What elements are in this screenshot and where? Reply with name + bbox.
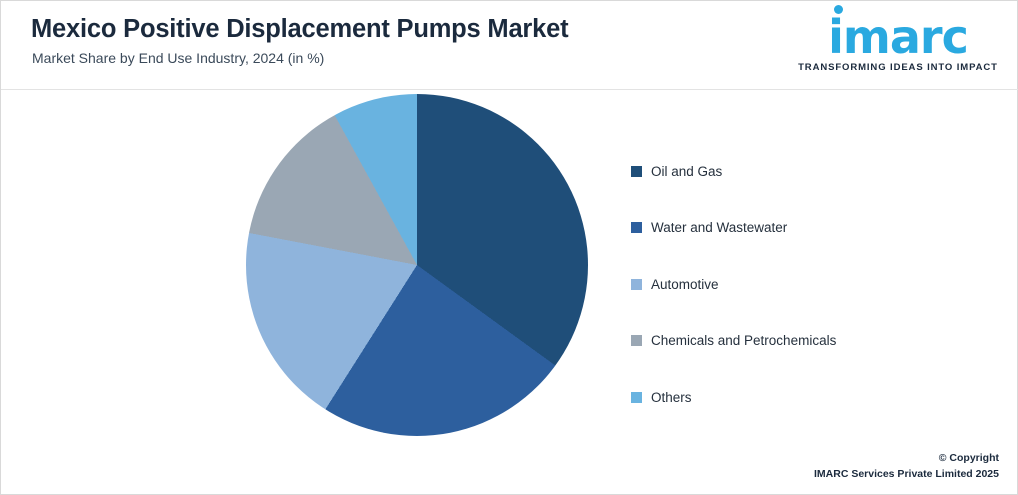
- legend-item[interactable]: Automotive: [631, 256, 971, 313]
- chart-page: Mexico Positive Displacement Pumps Marke…: [0, 0, 1018, 495]
- logo-wordmark: imarc: [828, 13, 968, 61]
- legend-item[interactable]: Oil and Gas: [631, 143, 971, 200]
- footer-copyright: © Copyright: [814, 450, 999, 466]
- legend-item-label: Water and Wastewater: [651, 220, 787, 235]
- imarc-logo: imarc TRANSFORMING IDEAS INTO IMPACT: [793, 13, 1003, 73]
- footer: © Copyright IMARC Services Private Limit…: [814, 450, 999, 482]
- legend-item-label: Oil and Gas: [651, 164, 722, 179]
- chart-legend: Oil and GasWater and WastewaterAutomotiv…: [631, 143, 971, 426]
- page-title: Mexico Positive Displacement Pumps Marke…: [31, 15, 568, 44]
- legend-item[interactable]: Others: [631, 369, 971, 426]
- legend-item-label: Automotive: [651, 277, 719, 292]
- legend-swatch-icon: [631, 279, 642, 290]
- footer-company: IMARC Services Private Limited 2025: [814, 466, 999, 482]
- legend-item-label: Others: [651, 390, 692, 405]
- legend-swatch-icon: [631, 392, 642, 403]
- legend-swatch-icon: [631, 335, 642, 346]
- logo-wordmark-text: imarc: [828, 10, 968, 64]
- pie-slices: [246, 94, 588, 436]
- legend-swatch-icon: [631, 166, 642, 177]
- legend-swatch-icon: [631, 222, 642, 233]
- legend-item-label: Chemicals and Petrochemicals: [651, 333, 836, 348]
- legend-item[interactable]: Water and Wastewater: [631, 200, 971, 257]
- header-divider: [1, 89, 1018, 90]
- legend-item[interactable]: Chemicals and Petrochemicals: [631, 313, 971, 370]
- pie-chart: [246, 94, 588, 436]
- page-subtitle: Market Share by End Use Industry, 2024 (…: [32, 50, 324, 66]
